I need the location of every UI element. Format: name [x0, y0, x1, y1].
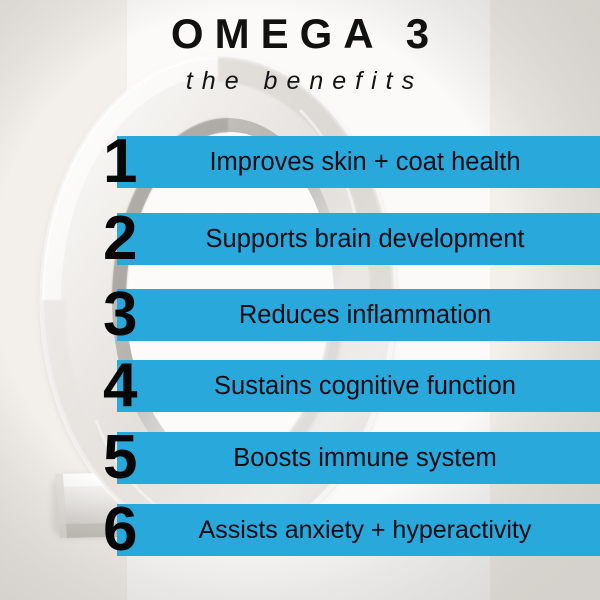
benefit-text-2: Supports brain development	[150, 213, 580, 265]
benefit-row-3: 3 Reduces inflammation	[0, 289, 600, 341]
benefits-list: 1 Improves skin + coat health 2 Supports…	[0, 0, 600, 600]
benefit-number-6: 6	[103, 489, 151, 571]
benefit-text-1: Improves skin + coat health	[150, 136, 580, 188]
benefit-row-2: 2 Supports brain development	[0, 213, 600, 265]
benefit-number-3: 3	[103, 274, 151, 356]
omega-3-benefits-poster: OMEGA 3 the benefits 1 Improves skin + c…	[0, 0, 600, 600]
benefit-row-1: 1 Improves skin + coat health	[0, 136, 600, 188]
benefit-text-4: Sustains cognitive function	[150, 360, 580, 412]
benefit-text-6: Assists anxiety + hyperactivity	[150, 504, 580, 556]
benefit-number-2: 2	[103, 198, 151, 280]
benefit-row-4: 4 Sustains cognitive function	[0, 360, 600, 412]
benefit-row-5: 5 Boosts immune system	[0, 432, 600, 484]
benefit-row-6: 6 Assists anxiety + hyperactivity	[0, 504, 600, 556]
benefit-number-1: 1	[103, 121, 151, 203]
benefit-text-3: Reduces inflammation	[150, 289, 580, 341]
benefit-text-5: Boosts immune system	[150, 432, 580, 484]
benefit-number-4: 4	[103, 345, 151, 427]
benefit-number-5: 5	[103, 417, 151, 499]
